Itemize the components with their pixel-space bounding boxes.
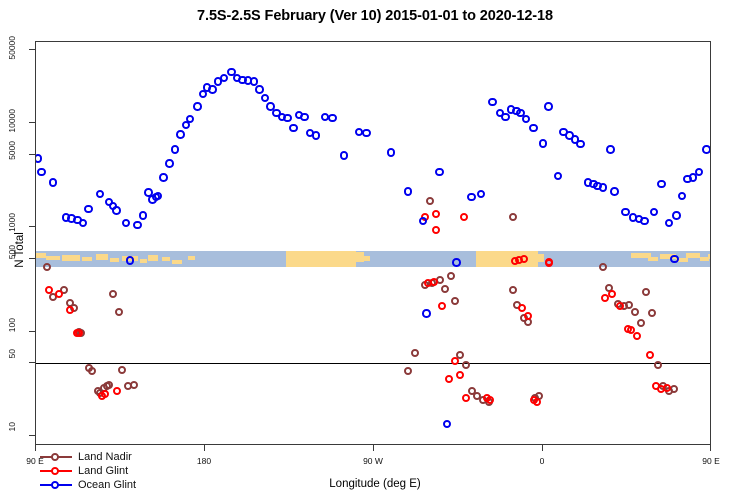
data-point-land-nadir [509, 213, 517, 221]
data-point-land-nadir [404, 367, 412, 375]
data-point-ocean-glint [49, 178, 58, 187]
data-point-land-nadir [109, 290, 117, 298]
data-point-ocean-glint [695, 168, 704, 177]
y-tick-label: 100 [7, 318, 19, 344]
land-mass [36, 253, 46, 258]
legend-label: Ocean Glint [78, 479, 136, 491]
data-point-ocean-glint [289, 124, 298, 133]
data-point-ocean-glint [554, 172, 563, 181]
data-point-ocean-glint [193, 102, 202, 111]
data-point-land-nadir [115, 308, 123, 316]
data-point-ocean-glint [154, 192, 163, 201]
data-point-ocean-glint [84, 205, 93, 214]
data-point-ocean-glint [126, 256, 135, 265]
data-point-land-glint [545, 258, 553, 266]
data-point-ocean-glint [452, 258, 461, 267]
x-tick-label: 180 [179, 456, 229, 466]
land-mass [96, 254, 108, 260]
data-point-ocean-glint [176, 130, 185, 139]
data-point-ocean-glint [488, 98, 497, 107]
y-tick-label: 1000 [7, 213, 19, 239]
land-mass [46, 256, 60, 260]
data-point-land-glint [533, 398, 541, 406]
data-point-ocean-glint [650, 208, 659, 217]
data-point-ocean-glint [283, 114, 292, 123]
data-point-ocean-glint [477, 190, 486, 199]
data-point-ocean-glint [544, 102, 553, 111]
land-mass [286, 251, 356, 267]
data-point-ocean-glint [96, 190, 105, 199]
data-point-ocean-glint [312, 131, 321, 140]
data-point-land-nadir [426, 197, 434, 205]
data-point-land-glint [520, 255, 528, 263]
legend-marker-icon [40, 465, 72, 477]
data-point-ocean-glint [702, 145, 710, 154]
data-point-ocean-glint [340, 151, 349, 160]
land-mass [354, 252, 364, 262]
land-mass [162, 257, 170, 261]
land-mass [62, 255, 80, 261]
data-point-land-glint [113, 387, 121, 395]
chart-root: 7.5S-2.5S February (Ver 10) 2015-01-01 t… [0, 0, 750, 500]
data-point-ocean-glint [467, 193, 476, 202]
data-point-land-glint [101, 390, 109, 398]
land-mass [364, 256, 370, 261]
land-mass [140, 259, 147, 263]
data-point-land-nadir [654, 361, 662, 369]
land-mass [686, 253, 700, 258]
data-point-ocean-glint [404, 187, 413, 196]
x-tick-label: 90 E [686, 456, 736, 466]
data-point-land-nadir [670, 385, 678, 393]
land-mass [648, 257, 658, 261]
land-mass [536, 254, 544, 262]
land-mass [476, 251, 538, 267]
data-point-land-glint [486, 396, 494, 404]
data-point-ocean-glint [599, 183, 608, 192]
plot-area [36, 42, 710, 444]
reference-line [36, 363, 710, 364]
data-point-land-nadir [462, 361, 470, 369]
x-tick-label: 0 [517, 456, 567, 466]
x-tick-mark [710, 445, 711, 451]
data-point-land-nadir [88, 367, 96, 375]
data-point-ocean-glint [186, 115, 195, 124]
legend-marker-icon [40, 451, 72, 463]
legend-label: Land Glint [78, 465, 128, 477]
data-point-ocean-glint [300, 113, 309, 122]
data-point-ocean-glint [529, 124, 538, 133]
data-point-ocean-glint [261, 94, 270, 103]
data-point-ocean-glint [606, 145, 615, 154]
data-point-ocean-glint [670, 255, 679, 264]
data-point-ocean-glint [362, 129, 371, 138]
data-point-land-glint [518, 304, 526, 312]
data-point-land-nadir [631, 308, 639, 316]
y-tick-label: 50 [7, 349, 19, 375]
data-point-land-nadir [441, 285, 449, 293]
data-point-ocean-glint [640, 217, 649, 226]
data-point-land-nadir [642, 288, 650, 296]
land-mass [110, 258, 119, 262]
data-point-land-nadir [130, 381, 138, 389]
data-point-land-nadir [447, 272, 455, 280]
data-point-ocean-glint [37, 168, 46, 177]
data-point-ocean-glint [122, 219, 131, 228]
land-mass [172, 260, 182, 264]
data-point-ocean-glint [522, 115, 531, 124]
land-mass [188, 256, 195, 260]
data-point-land-glint [432, 226, 440, 234]
data-point-ocean-glint [208, 85, 217, 94]
legend-item[interactable]: Land Nadir [40, 450, 136, 464]
legend-label: Land Nadir [78, 451, 132, 463]
y-tick-label: 10000 [7, 109, 19, 135]
data-point-ocean-glint [159, 173, 168, 182]
land-mass [82, 257, 92, 261]
x-tick-mark [35, 445, 36, 451]
legend-item[interactable]: Land Glint [40, 464, 136, 478]
data-point-land-glint [646, 351, 654, 359]
data-point-ocean-glint [36, 154, 42, 163]
data-point-ocean-glint [443, 420, 452, 429]
x-tick-mark [542, 445, 543, 451]
data-point-land-glint [663, 384, 671, 392]
x-tick-label: 90 W [348, 456, 398, 466]
land-mass [708, 254, 710, 259]
y-tick-label: 10 [7, 422, 19, 448]
chart-title: 7.5S-2.5S February (Ver 10) 2015-01-01 t… [0, 8, 750, 24]
data-point-ocean-glint [422, 309, 431, 318]
data-point-land-glint [462, 394, 470, 402]
data-point-land-glint [633, 332, 641, 340]
x-tick-mark [204, 445, 205, 451]
data-point-land-glint [445, 375, 453, 383]
data-point-land-glint [456, 371, 464, 379]
data-point-land-nadir [509, 286, 517, 294]
legend-marker-icon [40, 479, 72, 491]
data-point-land-nadir [599, 263, 607, 271]
data-point-land-glint [430, 278, 438, 286]
data-point-ocean-glint [328, 114, 337, 123]
data-point-ocean-glint [672, 211, 681, 220]
data-point-ocean-glint [171, 145, 180, 154]
data-point-ocean-glint [255, 85, 264, 94]
y-tick-label: 50000 [7, 36, 19, 62]
y-tick-label: 5000 [7, 141, 19, 167]
data-point-ocean-glint [79, 219, 88, 228]
legend: Land NadirLand GlintOcean Glint [40, 450, 136, 492]
data-point-land-nadir [411, 349, 419, 357]
data-point-land-glint [55, 290, 63, 298]
data-point-ocean-glint [657, 180, 666, 189]
data-point-ocean-glint [220, 74, 229, 83]
data-point-ocean-glint [387, 148, 396, 157]
data-point-land-glint [432, 210, 440, 218]
data-point-ocean-glint [133, 221, 142, 230]
legend-item[interactable]: Ocean Glint [40, 478, 136, 492]
data-point-land-glint [460, 213, 468, 221]
data-point-ocean-glint [139, 211, 148, 220]
data-point-ocean-glint [610, 187, 619, 196]
data-point-land-glint [66, 306, 74, 314]
data-point-ocean-glint [419, 217, 428, 226]
data-point-land-nadir [118, 366, 126, 374]
data-point-ocean-glint [539, 139, 548, 148]
data-point-ocean-glint [165, 159, 174, 168]
plot-frame [35, 41, 711, 445]
data-point-ocean-glint [501, 113, 510, 122]
data-point-ocean-glint [435, 168, 444, 177]
data-point-land-nadir [43, 263, 51, 271]
world-map-strip [36, 251, 710, 267]
y-tick-label: 500 [7, 245, 19, 271]
x-tick-mark [373, 445, 374, 451]
data-point-ocean-glint [576, 140, 585, 149]
data-point-land-glint [451, 357, 459, 365]
land-mass [148, 255, 158, 261]
data-point-land-nadir [451, 297, 459, 305]
data-point-ocean-glint [678, 192, 687, 201]
data-point-land-glint [438, 302, 446, 310]
data-point-land-nadir [105, 381, 113, 389]
data-point-ocean-glint [112, 206, 121, 215]
data-point-land-glint [608, 290, 616, 298]
data-point-land-nadir [637, 319, 645, 327]
data-point-land-nadir [648, 309, 656, 317]
data-point-ocean-glint [665, 219, 674, 228]
